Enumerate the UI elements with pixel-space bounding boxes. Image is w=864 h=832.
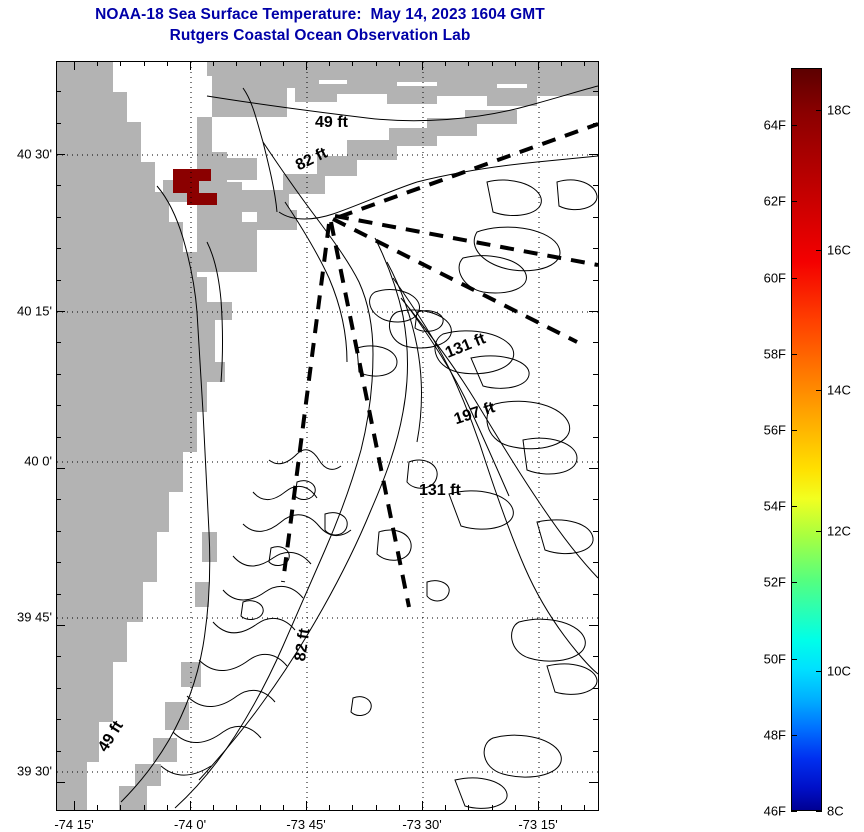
y-axis-tick-right — [593, 562, 598, 563]
y-axis-tick-right — [593, 405, 598, 406]
x-axis-tick-top — [445, 61, 446, 66]
x-axis-tick — [561, 805, 562, 810]
x-axis-tick-top — [561, 61, 562, 66]
depth-label-49ft-north: 49 ft — [315, 114, 348, 132]
x-axis-tick — [422, 801, 423, 810]
x-axis-tick — [120, 805, 121, 810]
y-axis-tick — [56, 217, 61, 218]
y-axis-label: 40 15' — [17, 304, 52, 319]
x-axis-tick-top — [213, 61, 214, 66]
colorbar-tick-fahrenheit — [791, 582, 797, 583]
y-axis-tick-right — [593, 751, 598, 752]
x-axis-tick-top — [167, 61, 168, 66]
sst-colorbar[interactable] — [791, 68, 822, 811]
x-axis-tick-top — [515, 61, 516, 66]
colorbar-label-celsius: 14C — [827, 383, 851, 398]
x-axis-label: -74 0' — [174, 817, 206, 832]
x-axis-tick — [352, 805, 353, 810]
y-axis-tick-right — [589, 468, 598, 469]
x-axis-tick-top — [144, 61, 145, 66]
y-axis-tick — [56, 688, 61, 689]
x-axis-tick — [399, 805, 400, 810]
x-axis-tick — [213, 805, 214, 810]
x-axis-tick-top — [283, 61, 284, 66]
colorbar-label-fahrenheit: 50F — [764, 652, 786, 667]
colorbar-tick-celsius — [816, 811, 822, 812]
y-axis-tick — [56, 342, 61, 343]
x-axis-tick-top — [190, 61, 191, 70]
colorbar-label-celsius: 8C — [827, 804, 844, 819]
colorbar-tick-celsius — [816, 110, 822, 111]
x-axis-label: -73 45' — [286, 817, 325, 832]
colorbar-tick-fahrenheit — [791, 201, 797, 202]
x-axis-tick — [74, 801, 75, 810]
x-axis-label: -73 15' — [518, 817, 557, 832]
y-axis-tick-right — [593, 656, 598, 657]
y-axis-tick — [56, 531, 61, 532]
x-axis-tick — [167, 805, 168, 810]
y-axis-tick-right — [593, 531, 598, 532]
y-axis-tick-right — [593, 719, 598, 720]
x-axis-tick-top — [260, 61, 261, 66]
x-axis-tick-top — [538, 61, 539, 70]
x-axis-tick-top — [329, 61, 330, 66]
colorbar-tick-fahrenheit — [791, 278, 797, 279]
y-axis-tick — [56, 405, 61, 406]
y-axis-tick-right — [593, 248, 598, 249]
map-clip — [57, 62, 598, 810]
colorbar-label-fahrenheit: 46F — [764, 804, 786, 819]
x-axis-tick — [445, 805, 446, 810]
y-axis-tick — [56, 154, 65, 155]
x-axis-tick-top — [468, 61, 469, 66]
x-axis-tick-top — [422, 61, 423, 70]
y-axis-tick — [56, 594, 61, 595]
colorbar-label-fahrenheit: 60F — [764, 271, 786, 286]
y-axis-tick-right — [589, 154, 598, 155]
colorbar-label-celsius: 16C — [827, 243, 851, 258]
colorbar-tick-fahrenheit — [791, 354, 797, 355]
x-axis-tick-top — [74, 61, 75, 70]
x-axis-tick — [515, 805, 516, 810]
y-axis-tick-right — [593, 185, 598, 186]
colorbar-label-fahrenheit: 58F — [764, 347, 786, 362]
y-axis-tick-right — [593, 374, 598, 375]
y-axis-tick-right — [593, 280, 598, 281]
y-axis-tick-right — [593, 437, 598, 438]
x-axis-tick — [329, 805, 330, 810]
y-axis-tick-right — [589, 625, 598, 626]
land-mask-layer — [57, 62, 598, 810]
colorbar-tick-fahrenheit — [791, 506, 797, 507]
y-axis-tick — [56, 248, 61, 249]
y-axis-label: 39 45' — [17, 610, 52, 625]
colorbar-tick-celsius — [816, 250, 822, 251]
y-axis-tick — [56, 782, 65, 783]
x-axis-tick — [376, 805, 377, 810]
colorbar-tick-celsius — [816, 390, 822, 391]
colorbar-tick-fahrenheit — [791, 735, 797, 736]
sst-map-plot-area[interactable]: 49 ft 82 ft 131 ft 197 ft 131 ft 82 ft 4… — [56, 61, 599, 811]
colorbar-gradient — [791, 68, 822, 811]
y-axis-tick — [56, 437, 61, 438]
y-axis-tick-right — [589, 311, 598, 312]
colorbar-label-celsius: 18C — [827, 103, 851, 118]
y-axis-tick-right — [593, 499, 598, 500]
map-graphics — [57, 62, 598, 810]
y-axis-tick — [56, 185, 61, 186]
colorbar-tick-celsius — [816, 671, 822, 672]
x-axis-tick — [538, 801, 539, 810]
x-axis-tick-top — [306, 61, 307, 70]
y-axis-tick — [56, 625, 65, 626]
x-axis-tick-top — [376, 61, 377, 66]
y-axis-label: 40 30' — [17, 147, 52, 162]
y-axis-label: 40 0' — [24, 454, 52, 469]
x-axis-tick — [306, 801, 307, 810]
title-line-2: Rutgers Coastal Ocean Observation Lab — [0, 25, 640, 46]
title-line-1: NOAA-18 Sea Surface Temperature: May 14,… — [0, 4, 640, 25]
colorbar-tick-fahrenheit — [791, 659, 797, 660]
y-axis-tick — [56, 91, 61, 92]
y-axis-tick-right — [593, 91, 598, 92]
chart-title-block: NOAA-18 Sea Surface Temperature: May 14,… — [0, 4, 640, 46]
y-axis-tick — [56, 499, 61, 500]
y-axis-tick — [56, 123, 61, 124]
y-axis-tick-right — [593, 594, 598, 595]
x-axis-tick — [492, 805, 493, 810]
x-axis-tick — [283, 805, 284, 810]
x-axis-tick-top — [352, 61, 353, 66]
y-axis-tick-right — [593, 217, 598, 218]
y-axis-tick — [56, 311, 65, 312]
colorbar-label-fahrenheit: 48F — [764, 728, 786, 743]
y-axis-tick-right — [593, 123, 598, 124]
y-axis-tick — [56, 719, 61, 720]
x-axis-tick — [468, 805, 469, 810]
colorbar-label-celsius: 10C — [827, 664, 851, 679]
colorbar-tick-celsius — [816, 531, 822, 532]
colorbar-label-fahrenheit: 56F — [764, 423, 786, 438]
colorbar-tick-fahrenheit — [791, 811, 797, 812]
x-axis-tick — [236, 805, 237, 810]
y-axis-tick-right — [593, 688, 598, 689]
y-axis-tick — [56, 751, 61, 752]
colorbar-label-fahrenheit: 64F — [764, 118, 786, 133]
y-axis-tick-right — [589, 782, 598, 783]
x-axis-tick — [584, 805, 585, 810]
x-axis-tick-top — [120, 61, 121, 66]
colorbar-tick-fahrenheit — [791, 430, 797, 431]
x-axis-tick — [190, 801, 191, 810]
y-axis-tick — [56, 656, 61, 657]
x-axis-tick — [260, 805, 261, 810]
x-axis-tick-top — [399, 61, 400, 66]
colorbar-tick-fahrenheit — [791, 125, 797, 126]
colorbar-label-fahrenheit: 54F — [764, 499, 786, 514]
colorbar-label-celsius: 12C — [827, 524, 851, 539]
colorbar-label-fahrenheit: 52F — [764, 575, 786, 590]
x-axis-tick-top — [236, 61, 237, 66]
x-axis-tick-top — [584, 61, 585, 66]
y-axis-tick — [56, 562, 61, 563]
x-axis-label: -73 30' — [402, 817, 441, 832]
x-axis-label: -74 15' — [54, 817, 93, 832]
x-axis-tick — [97, 805, 98, 810]
y-axis-tick — [56, 374, 61, 375]
colorbar-label-fahrenheit: 62F — [764, 194, 786, 209]
y-axis-tick-right — [593, 342, 598, 343]
depth-label-131ft-lower: 131 ft — [419, 482, 461, 500]
x-axis-tick-top — [492, 61, 493, 66]
y-axis-label: 39 30' — [17, 764, 52, 779]
y-axis-tick — [56, 468, 65, 469]
x-axis-tick — [144, 805, 145, 810]
x-axis-tick-top — [97, 61, 98, 66]
y-axis-tick — [56, 280, 61, 281]
